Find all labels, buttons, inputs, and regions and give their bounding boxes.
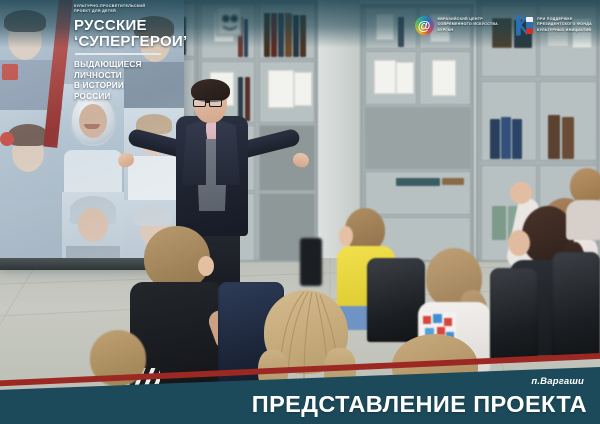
poster-subtitle-line3: В ИСТОРИИ xyxy=(74,81,182,92)
logo-bar: ЕВРАЗИЙСКИЙ ЦЕНТР СОВРЕМЕННОГО ИСКУССТВА… xyxy=(415,10,592,40)
logo-presidential-fund: ПРИ ПОДДЕРЖКЕ ПРЕЗИДЕНТСКОГО ФОНДА КУЛЬТ… xyxy=(516,15,592,36)
woman-face xyxy=(508,230,530,256)
poster-title-line1: РУССКИЕ xyxy=(74,18,182,34)
banner-title: ПРЕДСТАВЛЕНИЕ ПРОЕКТА xyxy=(0,393,587,417)
boy-cheek xyxy=(339,226,353,246)
banner-place-label: п.Варгаши xyxy=(531,376,584,387)
chair-3 xyxy=(490,268,538,360)
poster-text-block: КУЛЬТУРНО-ПРОСВЕТИТЕЛЬСКИЙ ПРОЕКТ ДЛЯ ДЕ… xyxy=(74,4,182,103)
logo1-line3: КУРГАН xyxy=(438,28,498,33)
logo-eurasian-center: ЕВРАЗИЙСКИЙ ЦЕНТР СОВРЕМЕННОГО ИСКУССТВА… xyxy=(415,16,498,35)
poster-kicker-line2: ПРОЕКТ ДЛЯ ДЕТЕЙ xyxy=(74,9,182,14)
chair-1 xyxy=(367,258,425,342)
russian-tricolor-k-logo xyxy=(516,15,533,36)
photo-slide: КУЛЬТУРНО-ПРОСВЕТИТЕЛЬСКИЙ ПРОЕКТ ДЛЯ ДЕ… xyxy=(0,0,600,424)
logo2-line3: КУЛЬТУРНЫХ ИНИЦИАТИВ xyxy=(537,28,592,33)
chair-2 xyxy=(552,252,600,356)
child-left-edge xyxy=(90,330,150,392)
logo-eurasian-center-text: ЕВРАЗИЙСКИЙ ЦЕНТР СОВРЕМЕННОГО ИСКУССТВА… xyxy=(438,17,498,33)
poster-title-line2: ‘СУПЕРГЕРОИ’ xyxy=(74,34,182,50)
girl-far-right xyxy=(566,168,600,238)
poster-subtitle-line4: РОССИИ xyxy=(74,92,182,103)
raised-hand xyxy=(510,182,532,204)
poster-subtitle-line2: ЛИЧНОСТИ xyxy=(74,71,182,82)
at-sign-rainbow-logo xyxy=(415,16,434,35)
poster-subtitle-line1: ВЫДАЮЩИЕСЯ xyxy=(74,60,182,71)
boy2-ear xyxy=(198,256,214,276)
glasses-icon xyxy=(193,99,225,107)
dark-equipment xyxy=(300,238,322,286)
poster-divider xyxy=(75,53,161,55)
logo-presidential-fund-text: ПРИ ПОДДЕРЖКЕ ПРЕЗИДЕНТСКОГО ФОНДА КУЛЬТ… xyxy=(537,17,592,33)
